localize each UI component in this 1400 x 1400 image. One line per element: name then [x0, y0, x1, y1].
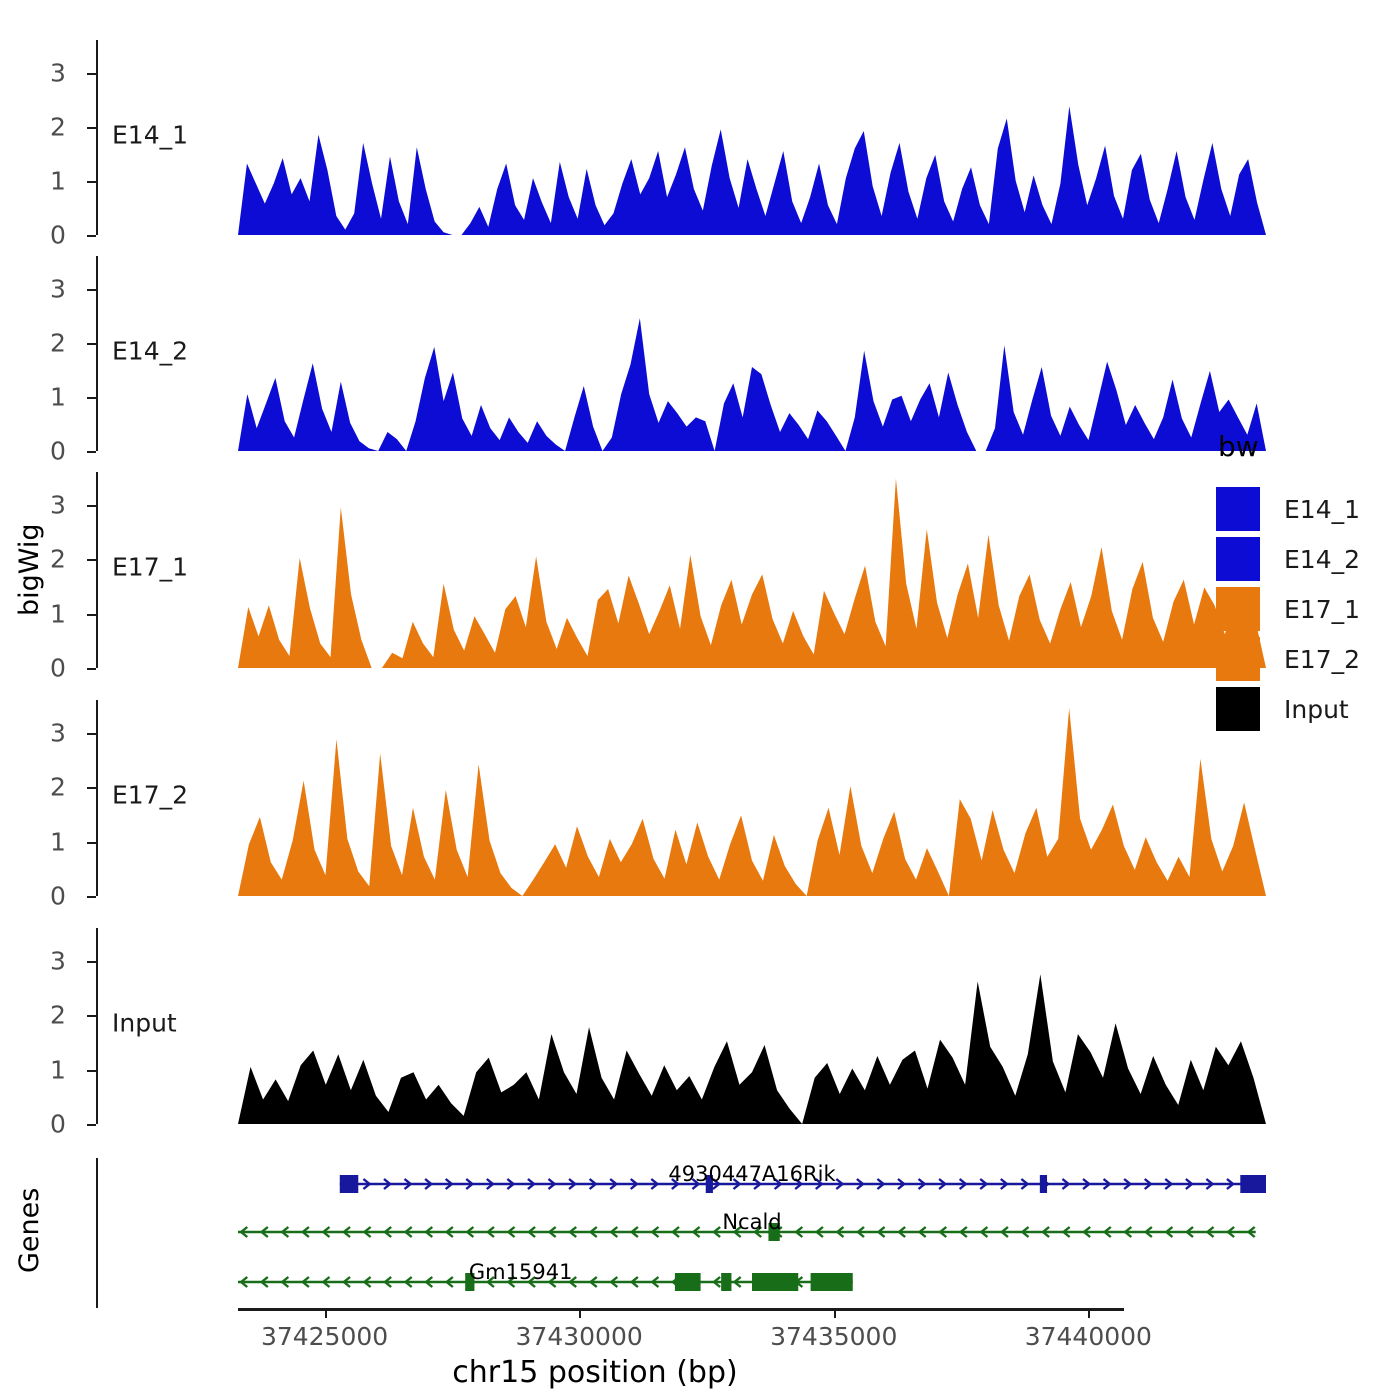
y-tick-label: 2	[50, 114, 66, 139]
x-tick-label: 37430000	[516, 1322, 643, 1351]
y-tick-label: 2	[50, 330, 66, 355]
y-tick	[87, 505, 96, 507]
y-tick	[87, 1124, 96, 1126]
y-tick	[87, 127, 96, 129]
legend-swatch	[1216, 487, 1260, 531]
y-axis-line	[96, 256, 98, 451]
y-tick-label: 3	[50, 720, 66, 745]
y-axis-title-bigwig: bigWig	[14, 250, 45, 890]
legend-item-e17_1[interactable]: E17_1	[1216, 585, 1360, 633]
y-axis-line	[96, 928, 98, 1124]
legend-swatch	[1216, 537, 1260, 581]
legend-item-e14_1[interactable]: E14_1	[1216, 485, 1360, 533]
y-tick	[87, 842, 96, 844]
legend-label: Input	[1284, 695, 1349, 724]
y-tick-label: 3	[50, 492, 66, 517]
track-label-e14_2: E14_2	[112, 336, 188, 365]
track-panel-e14_1: 0123E14_1	[96, 40, 1186, 235]
y-tick-label: 3	[50, 948, 66, 973]
x-tick	[834, 1308, 836, 1318]
y-tick-label: 0	[50, 439, 66, 464]
legend-label: E14_1	[1284, 495, 1360, 524]
y-tick	[87, 961, 96, 963]
y-tick	[87, 73, 96, 75]
legend-swatch	[1216, 587, 1260, 631]
track-label-e17_2: E17_2	[112, 781, 188, 810]
legend-swatch	[1216, 687, 1260, 731]
genes-panel: 4930447A16RikNcaldGm15941	[96, 1158, 1186, 1308]
legend-items: E14_1E14_2E17_1E17_2Input	[1216, 485, 1360, 733]
track-plot-area	[238, 256, 1266, 451]
y-tick-label: 3	[50, 276, 66, 301]
track-plot-area	[238, 928, 1266, 1124]
x-axis-title: chr15 position (bp)	[0, 1355, 1190, 1390]
y-tick	[87, 896, 96, 898]
y-tick	[87, 1070, 96, 1072]
x-tick	[579, 1308, 581, 1318]
track-plot-area	[238, 472, 1266, 668]
y-tick	[87, 668, 96, 670]
genome-browser-figure: bigWig Genes 0123E14_10123E14_20123E17_1…	[0, 0, 1400, 1400]
legend-item-input[interactable]: Input	[1216, 685, 1360, 733]
y-tick-label: 1	[50, 1057, 66, 1082]
track-label-e14_1: E14_1	[112, 120, 188, 149]
y-tick-label: 1	[50, 384, 66, 409]
legend-item-e14_2[interactable]: E14_2	[1216, 535, 1360, 583]
y-tick-label: 1	[50, 601, 66, 626]
y-tick-label: 2	[50, 1003, 66, 1028]
y-tick	[87, 614, 96, 616]
y-tick-label: 0	[50, 1112, 66, 1137]
legend-title: bw	[1218, 430, 1360, 463]
y-tick	[87, 343, 96, 345]
signal-area-e17_2	[238, 700, 1266, 896]
legend-label: E17_2	[1284, 645, 1360, 674]
legend-label: E14_2	[1284, 545, 1360, 574]
legend-swatch	[1216, 637, 1260, 681]
legend: bw E14_1E14_2E17_1E17_2Input	[1216, 430, 1360, 735]
x-tick-label: 37440000	[1025, 1322, 1152, 1351]
signal-area-e14_2	[238, 256, 1266, 451]
gene-label-Ncald: Ncald	[722, 1210, 781, 1234]
y-tick-label: 1	[50, 168, 66, 193]
y-tick	[87, 451, 96, 453]
y-tick	[87, 289, 96, 291]
track-panel-input: 0123Input	[96, 928, 1186, 1124]
track-panel-e17_2: 0123E17_2	[96, 700, 1186, 896]
y-tick-label: 0	[50, 656, 66, 681]
signal-area-input	[238, 928, 1266, 1124]
gene-label-4930447A16Rik: 4930447A16Rik	[668, 1162, 835, 1186]
legend-label: E17_1	[1284, 595, 1360, 624]
y-axis-line	[96, 700, 98, 896]
y-tick	[87, 787, 96, 789]
y-tick-label: 2	[50, 775, 66, 800]
x-axis-line	[238, 1308, 1124, 1311]
x-tick	[1088, 1308, 1090, 1318]
y-tick	[87, 733, 96, 735]
y-axis-line	[96, 472, 98, 668]
y-tick-label: 2	[50, 547, 66, 572]
genes-axis-line	[96, 1158, 98, 1308]
track-panel-e17_1: 0123E17_1	[96, 472, 1186, 668]
genes-plot-area: 4930447A16RikNcaldGm15941	[238, 1158, 1266, 1308]
y-tick	[87, 559, 96, 561]
y-tick-label: 0	[50, 223, 66, 248]
y-axis-title-genes: Genes	[14, 1155, 45, 1305]
signal-area-e14_1	[238, 40, 1266, 235]
track-label-e17_1: E17_1	[112, 553, 188, 582]
y-tick	[87, 397, 96, 399]
y-tick-label: 1	[50, 829, 66, 854]
y-tick	[87, 1015, 96, 1017]
track-label-input: Input	[112, 1009, 177, 1038]
track-panel-e14_2: 0123E14_2	[96, 256, 1186, 451]
x-tick-label: 37435000	[770, 1322, 897, 1351]
y-tick-label: 0	[50, 884, 66, 909]
legend-item-e17_2[interactable]: E17_2	[1216, 635, 1360, 683]
signal-area-e17_1	[238, 472, 1266, 668]
track-plot-area	[238, 700, 1266, 896]
track-plot-area	[238, 40, 1266, 235]
gene-label-Gm15941: Gm15941	[469, 1260, 573, 1284]
x-tick	[325, 1308, 327, 1318]
x-tick-label: 37425000	[261, 1322, 388, 1351]
y-tick	[87, 181, 96, 183]
y-tick	[87, 235, 96, 237]
y-tick-label: 3	[50, 60, 66, 85]
y-axis-line	[96, 40, 98, 235]
